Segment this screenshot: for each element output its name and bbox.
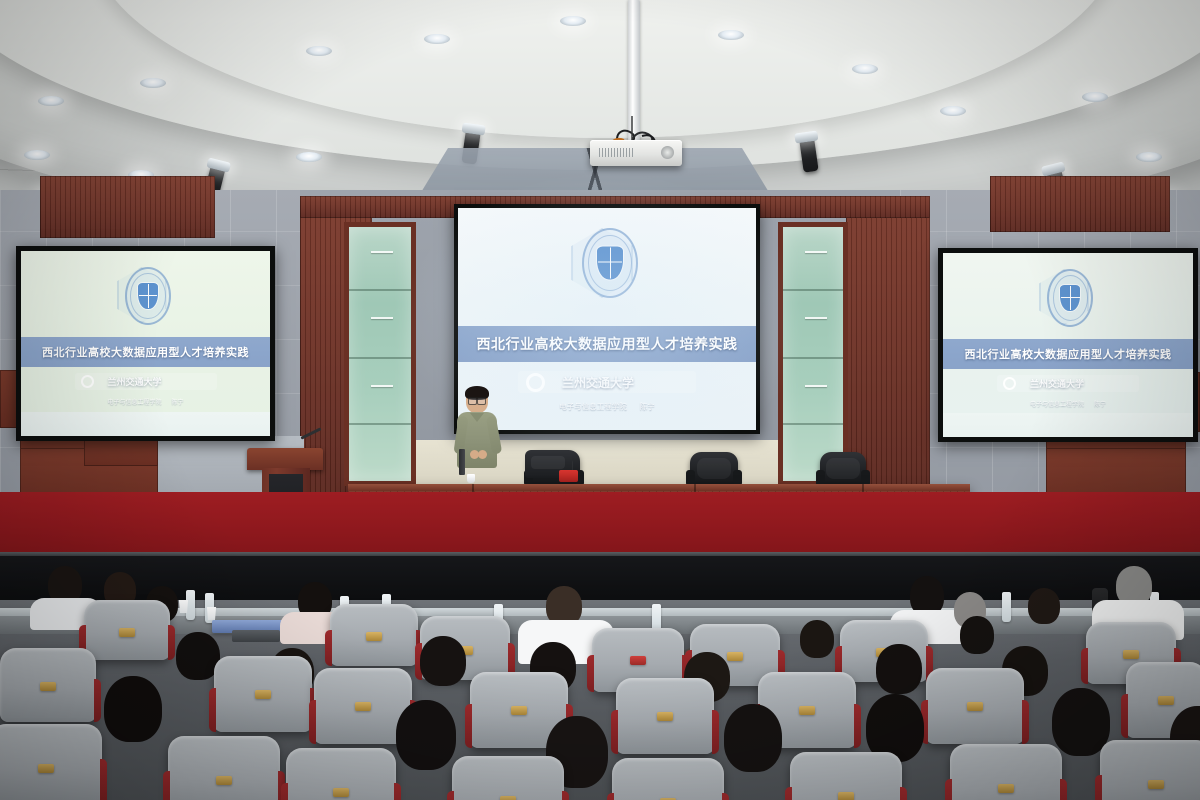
university-name: 兰州交通大学	[562, 374, 634, 391]
wooden-lectern-top	[247, 448, 323, 470]
audience-head	[960, 616, 994, 654]
lecture-hall-photo: 西北行业高校大数据应用型人才培养实践 兰州交通大学 电子与信息工程学院 陈宁	[0, 0, 1200, 800]
audience-head	[724, 704, 782, 772]
auditorium-seat[interactable]	[0, 724, 102, 800]
auditorium-seat[interactable]	[214, 656, 312, 732]
auditorium-seat[interactable]	[926, 668, 1024, 744]
door-handle[interactable]	[805, 251, 827, 253]
recessed-downlight	[560, 16, 586, 26]
water-bottle	[1002, 592, 1011, 622]
seat-number-plate	[216, 776, 232, 785]
seat-number-plate	[727, 652, 743, 661]
frosted-glass-door-left	[344, 222, 416, 486]
university-name-pill: 兰州交通大学	[75, 373, 217, 390]
seat-number-plate	[511, 706, 527, 715]
seat-number-plate	[1123, 650, 1139, 659]
university-emblem	[1037, 269, 1099, 331]
auditorium-seat[interactable]	[950, 744, 1062, 800]
right-side-projection-screen: 西北行业高校大数据应用型人才培养实践 兰州交通大学 电子与信息工程学院 陈宁	[938, 248, 1198, 442]
ring-icon	[526, 373, 545, 392]
presenter-name: 陈宁	[640, 401, 655, 412]
recessed-downlight	[852, 64, 878, 74]
university-name-pill: 兰州交通大学	[518, 371, 696, 393]
slide-title: 西北行业高校大数据应用型人才培养实践	[477, 334, 738, 354]
seat-number-plate	[1158, 696, 1174, 705]
auditorium-seat[interactable]	[612, 758, 724, 800]
door-handle[interactable]	[371, 317, 393, 319]
presenter-name: 陈宁	[172, 397, 184, 406]
tablet-device	[232, 630, 280, 642]
auditorium-seat[interactable]	[168, 736, 280, 800]
auditorium-seat[interactable]	[286, 748, 396, 800]
laptop-screen	[459, 449, 465, 475]
seat-number-plate	[1148, 780, 1164, 789]
frosted-glass-door-right	[778, 222, 848, 486]
department-name: 电子与信息工程学院	[559, 401, 627, 412]
department-name: 电子与信息工程学院	[1030, 399, 1084, 408]
slide-title-band: 西北行业高校大数据应用型人才培养实践	[458, 326, 756, 362]
ring-icon	[1003, 377, 1016, 390]
university-name: 兰州交通大学	[1030, 377, 1084, 390]
auditorium-seat[interactable]	[330, 604, 418, 666]
slide-department-line: 电子与信息工程学院 陈宁	[1030, 399, 1106, 408]
seat-number-plate	[838, 792, 854, 800]
red-object-on-table	[559, 470, 578, 482]
speaker-hand	[478, 450, 487, 459]
slide-department-line: 电子与信息工程学院 陈宁	[107, 397, 183, 406]
recessed-downlight	[424, 34, 450, 44]
recessed-downlight	[24, 150, 50, 160]
university-name: 兰州交通大学	[108, 375, 162, 388]
university-name-pill: 兰州交通大学	[997, 375, 1139, 392]
paper-cup	[467, 474, 475, 483]
audience-head	[1052, 688, 1110, 756]
auditorium-seat[interactable]	[790, 752, 902, 800]
stage-chair	[820, 452, 866, 488]
auditorium-seat[interactable]	[616, 678, 714, 754]
ceiling-mounted-projector	[590, 140, 682, 166]
seat-number-plate	[967, 702, 983, 711]
slide-department-line: 电子与信息工程学院 陈宁	[559, 401, 655, 412]
seat-number-plate	[333, 788, 349, 797]
university-emblem	[115, 267, 177, 329]
seat-number-plate	[366, 632, 382, 641]
seat-number-plate	[500, 796, 516, 800]
stage-backdrop-wall	[846, 196, 930, 496]
ring-icon	[81, 375, 94, 388]
seat-number-plate	[40, 682, 56, 691]
recessed-downlight	[38, 96, 64, 106]
slide-title-band: 西北行业高校大数据应用型人才培养实践	[21, 337, 270, 367]
door-handle[interactable]	[805, 317, 827, 319]
recessed-downlight	[296, 152, 322, 162]
seat-number-plate	[657, 712, 673, 721]
presenter-name: 陈宁	[1094, 399, 1106, 408]
door-handle[interactable]	[371, 385, 393, 387]
seat-number-plate	[38, 764, 54, 773]
audience-head	[396, 700, 456, 770]
door-handle[interactable]	[371, 251, 393, 253]
auditorium-seat[interactable]	[452, 756, 564, 800]
auditorium-seat[interactable]	[1100, 740, 1200, 800]
auditorium-seat[interactable]	[0, 648, 96, 722]
seat-number-plate	[630, 656, 646, 665]
recessed-downlight	[718, 30, 744, 40]
audience-head	[876, 644, 922, 694]
wood-wall-panel	[40, 176, 215, 238]
speaker-head	[466, 388, 488, 413]
door-handle[interactable]	[805, 385, 827, 387]
seat-number-plate	[998, 784, 1014, 793]
wood-wall-panel	[990, 176, 1170, 232]
eyeglasses	[468, 397, 486, 403]
slide-title: 西北行业高校大数据应用型人才培养实践	[965, 346, 1172, 362]
seat-number-plate	[799, 706, 815, 715]
department-name: 电子与信息工程学院	[107, 397, 161, 406]
recessed-downlight	[306, 46, 332, 56]
audience-head	[420, 636, 466, 686]
audience-head	[104, 676, 162, 742]
seat-number-plate	[255, 690, 271, 699]
auditorium-seat[interactable]	[84, 600, 170, 660]
slide-title-band: 西北行业高校大数据应用型人才培养实践	[943, 339, 1193, 369]
audience-head	[1028, 588, 1060, 624]
left-side-projection-screen: 西北行业高校大数据应用型人才培养实践 兰州交通大学 电子与信息工程学院 陈宁	[16, 246, 275, 441]
slide-title: 西北行业高校大数据应用型人才培养实践	[42, 344, 249, 360]
stage-chair	[690, 452, 738, 488]
seat-number-plate	[355, 702, 371, 711]
audience-head	[800, 620, 834, 658]
recessed-downlight	[1082, 92, 1108, 102]
recessed-downlight	[140, 78, 166, 88]
university-emblem	[568, 228, 646, 308]
seat-number-plate	[119, 628, 135, 637]
recessed-downlight	[1136, 152, 1162, 162]
recessed-downlight	[940, 106, 966, 116]
